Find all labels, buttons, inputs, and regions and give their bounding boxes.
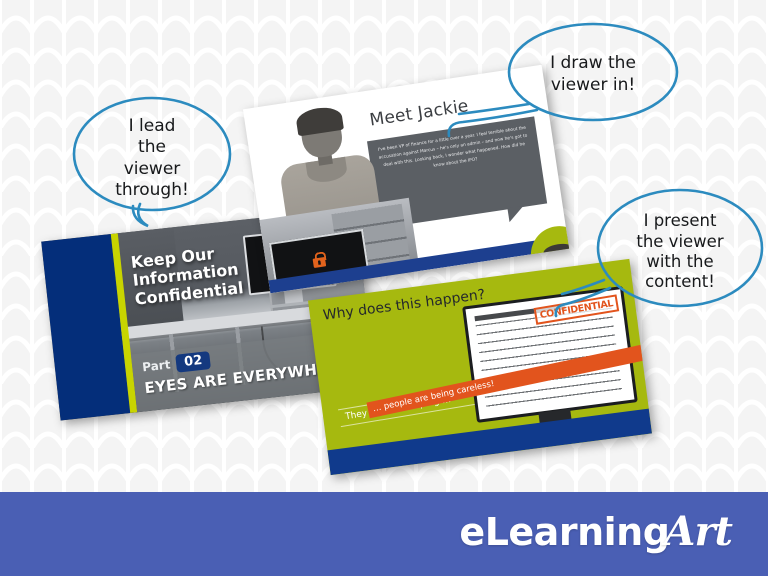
elearningart-logo[interactable]: eLearning Art (459, 508, 732, 555)
speech-bubble-draw[interactable]: I draw the viewer in! (507, 22, 679, 127)
part-number: 02 (175, 351, 211, 373)
padlock-icon (312, 252, 326, 269)
part-label: Part (142, 357, 172, 374)
logo-script-text: Art (664, 508, 732, 555)
slide2-title: Meet Jackie (368, 97, 470, 132)
poster-stage: Keep Our Information Confidential Part 0… (0, 0, 768, 576)
quote-tail (508, 206, 526, 222)
logo-main-text: eLearning (459, 510, 669, 554)
speech-bubble-present[interactable]: I present the viewer with the content! (596, 188, 764, 316)
speech-bubble-lead[interactable]: I lead the viewer through! (72, 96, 232, 221)
